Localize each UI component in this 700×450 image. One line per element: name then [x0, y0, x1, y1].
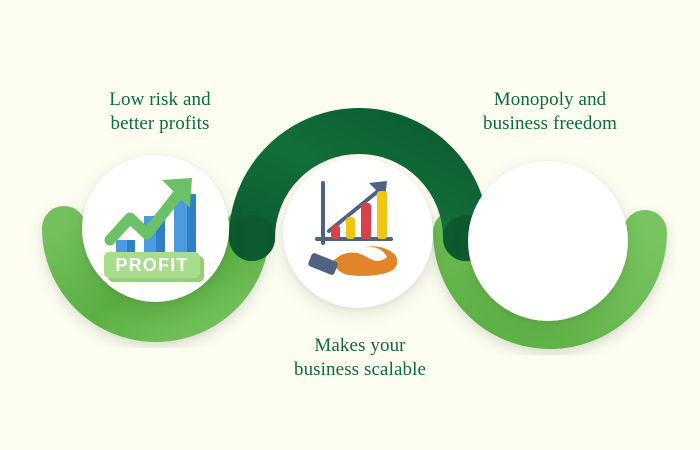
node-label-2: Makes your business scalable: [255, 334, 465, 383]
node-label-2-line-2: business scalable: [255, 358, 465, 382]
node-label-1-line-1: Low risk and: [55, 88, 265, 112]
node-label-1: Low risk and better profits: [55, 88, 265, 137]
node-label-2-line-1: Makes your: [255, 334, 465, 358]
node-circle-3[interactable]: [468, 161, 628, 321]
infographic-canvas: PROFIT: [0, 0, 700, 450]
profit-banner-label: PROFIT: [115, 255, 188, 276]
node-label-3-line-2: business freedom: [445, 112, 655, 136]
hand-icon: [307, 246, 397, 276]
hand-holding-bar-chart-icon: [303, 175, 415, 287]
node-label-3: Monopoly and business freedom: [445, 88, 655, 137]
profit-growth-chart-icon: PROFIT: [100, 168, 215, 283]
arc-cap-left: [229, 215, 275, 261]
node-label-1-line-2: better profits: [55, 112, 265, 136]
node-label-3-line-1: Monopoly and: [445, 88, 655, 112]
bar-group: [331, 191, 387, 239]
